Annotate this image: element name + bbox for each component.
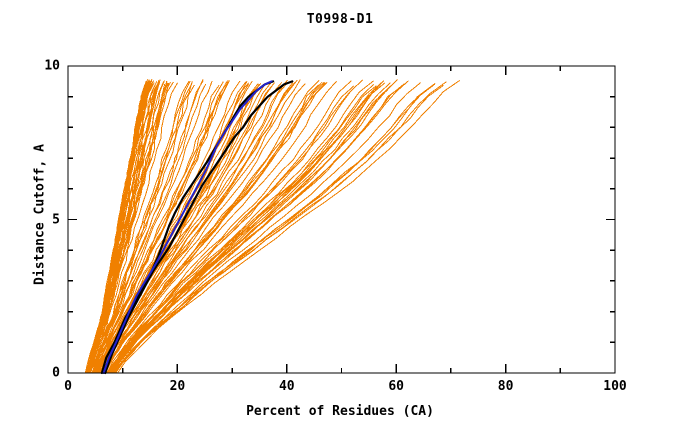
x-tick-label-20: 20 (170, 379, 186, 394)
x-tick-label-100: 100 (603, 379, 626, 394)
x-tick-label-0: 0 (64, 379, 72, 394)
y-tick-label-0: 0 (34, 366, 60, 381)
x-tick-label-60: 60 (388, 379, 404, 394)
chart-container: T0998-D1 Percent of Residues (CA) Distan… (0, 0, 680, 440)
x-tick-label-80: 80 (498, 379, 514, 394)
y-tick-label-5: 5 (34, 212, 60, 227)
ensemble-curves (85, 79, 459, 373)
x-tick-label-40: 40 (279, 379, 295, 394)
plot-canvas (0, 0, 680, 440)
y-tick-label-10: 10 (34, 59, 60, 74)
x-axis-label: Percent of Residues (CA) (0, 404, 680, 419)
